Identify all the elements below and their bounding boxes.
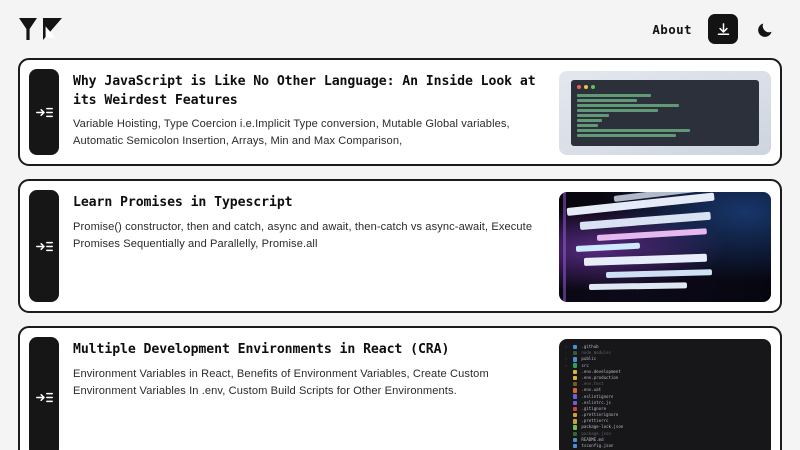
- card-description: Environment Variables in React, Benefits…: [73, 366, 539, 400]
- explorer-file-row[interactable]: package.json: [565, 431, 765, 437]
- arrow-into-list-icon: [36, 391, 53, 404]
- moon-icon: [757, 21, 774, 38]
- terminal-code-lines: [577, 94, 753, 137]
- card-title: Multiple Development Environments in Rea…: [73, 341, 539, 360]
- file-icon: [573, 388, 577, 392]
- article-list: Why JavaScript is Like No Other Language…: [0, 58, 800, 450]
- terminal-mock: [571, 80, 759, 146]
- file-icon: [573, 394, 577, 398]
- card-thumbnail[interactable]: [559, 192, 771, 302]
- folder-icon: [573, 351, 577, 355]
- explorer-file-name: tsconfig.json: [581, 443, 613, 449]
- card-thumbnail[interactable]: [559, 71, 771, 155]
- card-description: Promise() constructor, then and catch, a…: [73, 219, 539, 253]
- card-thumbnail[interactable]: ›.github›node_modules›public›src.env.dev…: [559, 339, 771, 450]
- card-rail-button[interactable]: [29, 337, 59, 450]
- code-photo-mock: [559, 192, 771, 302]
- card-body: Learn Promises in Typescript Promise() c…: [69, 190, 549, 302]
- arrow-into-list-icon: [36, 240, 53, 253]
- card-body: Why JavaScript is Like No Other Language…: [69, 69, 549, 155]
- folder-icon: [573, 357, 577, 361]
- file-icon: [573, 419, 577, 423]
- article-card[interactable]: Multiple Development Environments in Rea…: [18, 326, 782, 450]
- yk-logo[interactable]: [18, 16, 64, 42]
- file-icon: [573, 413, 577, 417]
- card-title: Learn Promises in Typescript: [73, 194, 539, 213]
- file-icon: [573, 425, 577, 429]
- arrow-into-list-icon: [36, 106, 53, 119]
- card-rail-button[interactable]: [29, 69, 59, 155]
- file-icon: [573, 401, 577, 405]
- file-icon: [573, 370, 577, 374]
- explorer-file-row[interactable]: .env.test: [565, 381, 765, 387]
- app-header: About: [0, 0, 800, 58]
- card-rail-button[interactable]: [29, 190, 59, 302]
- download-button[interactable]: [708, 14, 738, 44]
- file-icon: [573, 382, 577, 386]
- explorer-file-row[interactable]: ›node_modules: [565, 350, 765, 356]
- article-card[interactable]: Learn Promises in Typescript Promise() c…: [18, 179, 782, 313]
- file-icon: [573, 432, 577, 436]
- explorer-file-name: package.json: [581, 431, 611, 437]
- about-link[interactable]: About: [650, 18, 694, 41]
- header-actions: About: [650, 14, 778, 44]
- card-description: Variable Hoisting, Type Coercion i.e.Imp…: [73, 116, 539, 150]
- folder-icon: [573, 345, 577, 349]
- chevron-right-icon: ›: [565, 350, 569, 356]
- vscode-explorer-mock: ›.github›node_modules›public›src.env.dev…: [559, 339, 771, 450]
- card-body: Multiple Development Environments in Rea…: [69, 337, 549, 450]
- theme-toggle-button[interactable]: [752, 16, 778, 42]
- folder-icon: [573, 363, 577, 367]
- yk-logo-icon: [18, 16, 64, 42]
- file-icon: [573, 376, 577, 380]
- article-card[interactable]: Why JavaScript is Like No Other Language…: [18, 58, 782, 166]
- explorer-file-row[interactable]: tsconfig.json: [565, 443, 765, 449]
- explorer-file-name: node_modules: [581, 350, 611, 356]
- file-icon: [573, 438, 577, 442]
- explorer-file-name: .env.test: [581, 381, 603, 387]
- file-icon: [573, 444, 577, 448]
- file-icon: [573, 407, 577, 411]
- card-title: Why JavaScript is Like No Other Language…: [73, 73, 539, 110]
- download-icon: [716, 22, 731, 37]
- traffic-light-dots: [577, 85, 753, 89]
